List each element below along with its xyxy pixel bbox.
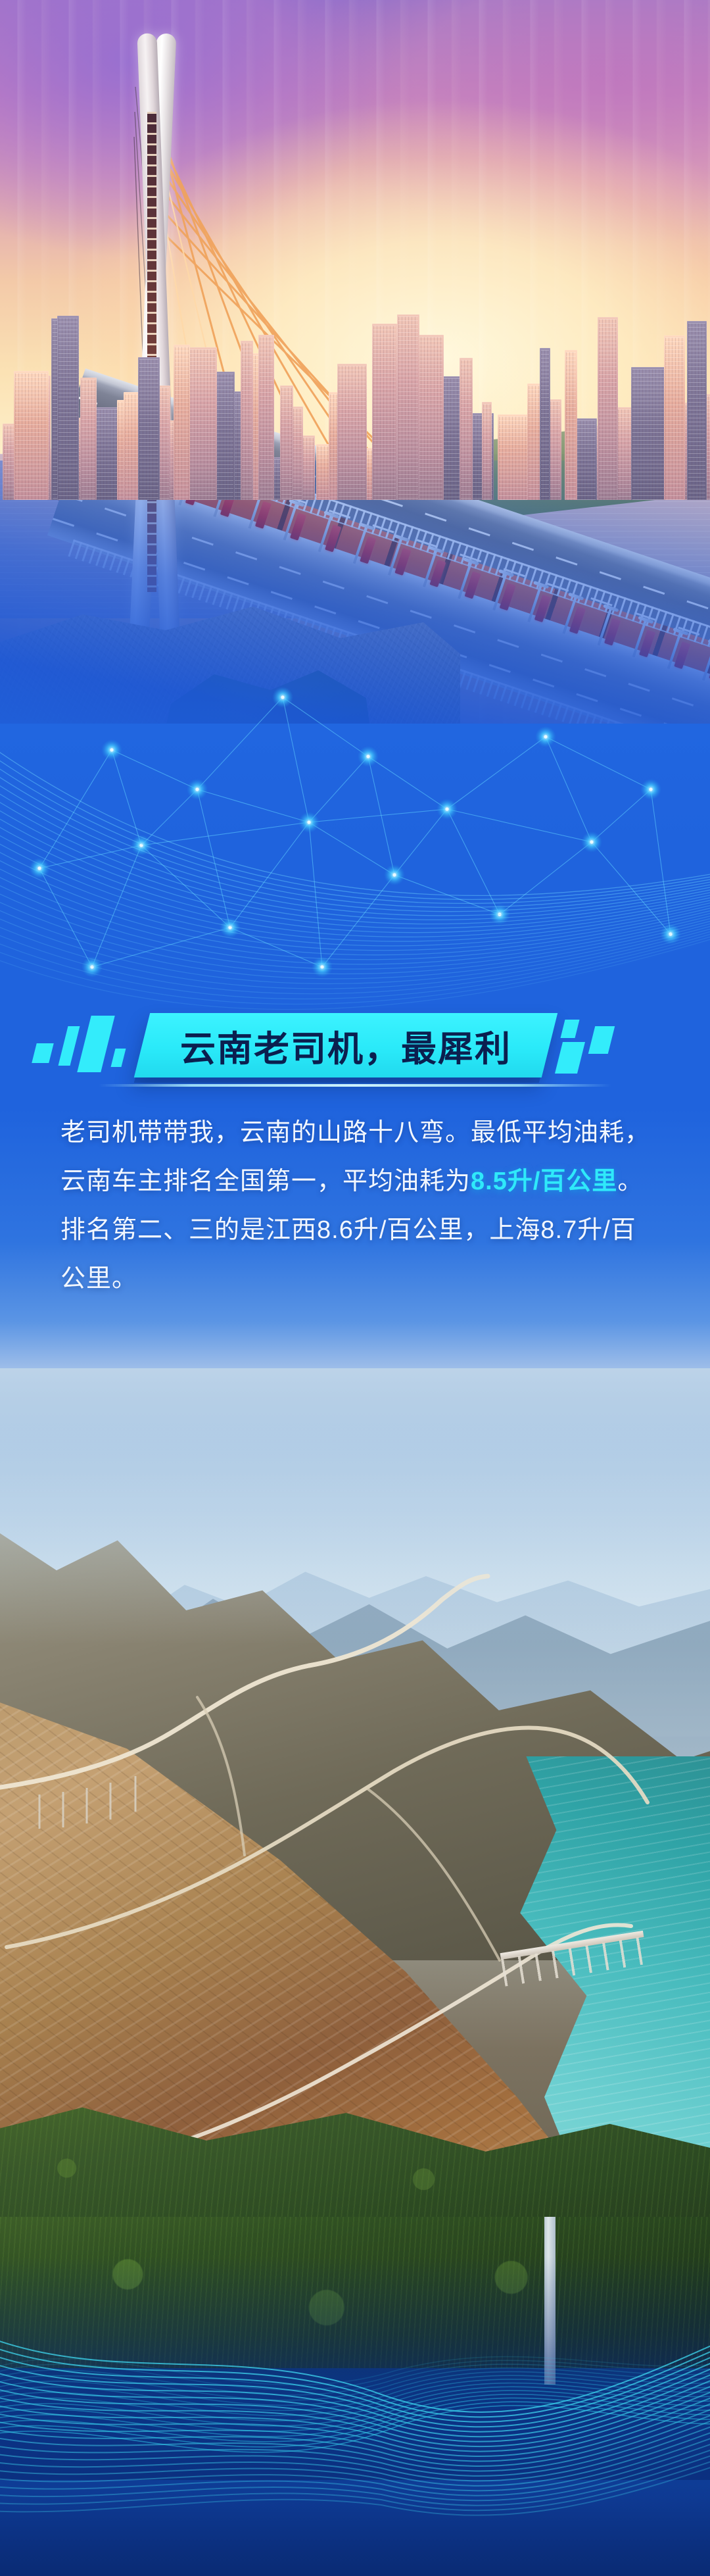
skyline-building <box>631 367 667 500</box>
decor-bar-right-2 <box>555 1042 585 1074</box>
skyline-building <box>14 371 49 500</box>
skyline-building <box>337 364 367 500</box>
poster-root: 云南老司机，最犀利 老司机带带我，云南的山路十八弯。最低平均油耗，云南车主排名全… <box>0 0 710 2576</box>
skyline-building <box>138 357 159 500</box>
decor-bar-right-1 <box>561 1020 580 1038</box>
skyline-building <box>124 392 139 500</box>
skyline-building <box>416 335 444 500</box>
arc-wave-lines-top <box>0 664 710 1033</box>
skyline-building <box>482 402 492 500</box>
decor-bar-right-3 <box>588 1026 615 1054</box>
highlight-fuel-value: 8.5升/百公里 <box>471 1168 617 1195</box>
wave-line <box>0 2415 710 2505</box>
arc-wave-line <box>0 741 710 912</box>
skyline-building <box>397 314 419 500</box>
skyline-building <box>241 341 254 500</box>
skyline-building <box>598 317 618 500</box>
arc-wave-line <box>0 750 710 916</box>
skyline-building <box>258 335 274 500</box>
atmospheric-haze <box>0 1368 710 1645</box>
arc-wave-line <box>0 731 710 908</box>
arc-wave-line <box>0 768 710 924</box>
arc-wave-line <box>0 860 710 969</box>
skyline-building <box>292 407 303 500</box>
arc-wave-line <box>0 722 710 903</box>
skyline-building <box>540 348 551 500</box>
skyline-building <box>687 321 707 500</box>
decor-bar-left-2 <box>59 1026 80 1066</box>
skyline-building <box>372 324 397 500</box>
skyline-building <box>302 435 315 500</box>
body-paragraph: 老司机带带我，云南的山路十八弯。最低平均油耗，云南车主排名全国第一，平均油耗为8… <box>60 1108 652 1303</box>
wave-line <box>0 2410 710 2500</box>
title-banner: 云南老司机，最犀利 <box>0 1006 710 1092</box>
arc-wave-line <box>0 796 710 937</box>
skyline-building <box>664 335 684 500</box>
skyline-building <box>498 414 529 500</box>
page-title: 云南老司机，最犀利 <box>142 1013 550 1077</box>
decor-bar-left-1 <box>32 1043 53 1063</box>
arc-wave-line <box>0 704 710 895</box>
skyline-building <box>57 316 80 500</box>
bottom-wave-section <box>0 2217 710 2576</box>
skyline-building <box>549 399 561 500</box>
arc-wave-line <box>0 778 710 928</box>
decor-bar-left-3 <box>77 1016 114 1072</box>
title-underline-glow <box>99 1084 611 1087</box>
skyline-building <box>565 350 578 500</box>
arc-wave-line <box>0 879 710 979</box>
flowing-wave-lines <box>0 2217 710 2565</box>
decor-bar-left-4 <box>111 1049 126 1067</box>
mountain-road-image <box>0 1368 710 2342</box>
skyline-building <box>174 345 191 500</box>
skyline-building <box>460 358 473 500</box>
skyline-building <box>280 385 293 500</box>
skyline-building <box>80 378 96 500</box>
body-text-part-2: 为 <box>445 1168 471 1195</box>
skyline-building <box>215 372 235 500</box>
